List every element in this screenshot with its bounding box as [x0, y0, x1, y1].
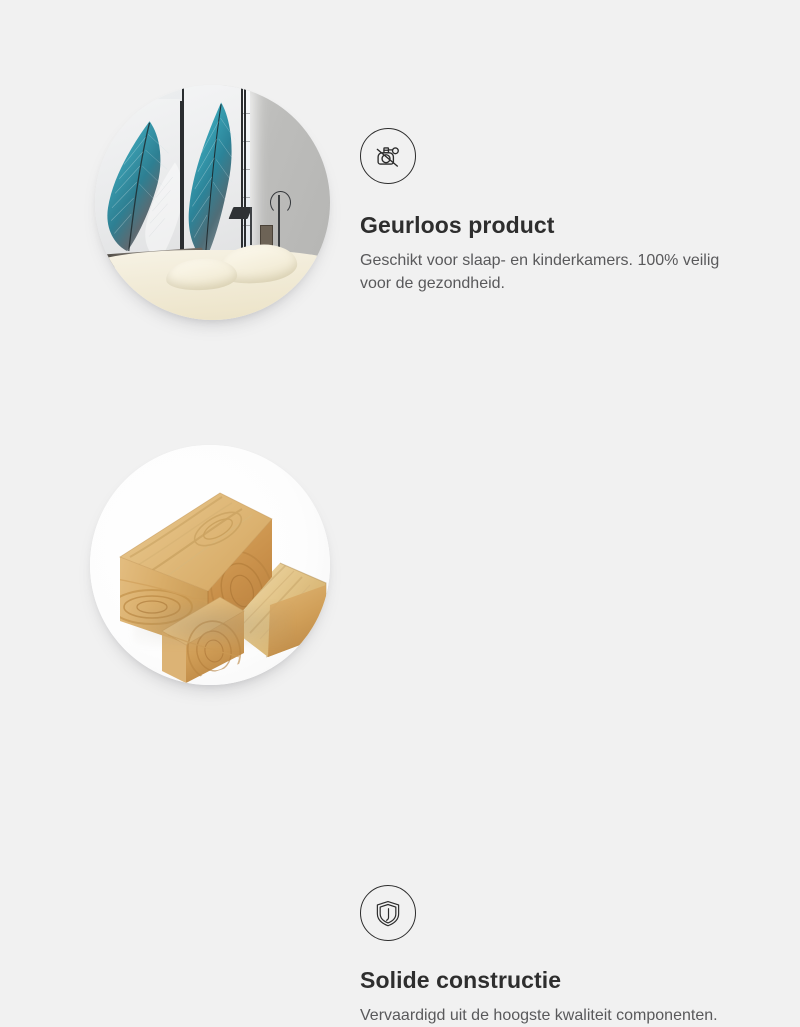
feature-text-solid: Solide constructie Vervaardigd uit de ho… [360, 885, 760, 1027]
feature-description: Vervaardigd uit de hoogste kwaliteit com… [360, 1004, 750, 1027]
feature-description: Geschikt voor slaap- en kinderkamers. 10… [360, 249, 750, 296]
feather-graphic-middle [182, 99, 243, 264]
wooden-blocks-illustration [90, 445, 330, 685]
wooden-blocks-photo [90, 445, 330, 685]
no-perfume-icon [360, 128, 416, 184]
feature-title: Geurloos product [360, 212, 760, 240]
bedroom-scene [95, 85, 330, 320]
lamp-stand [250, 207, 252, 245]
panel-edge [244, 85, 246, 268]
feather-wall-art-bedroom-photo [95, 85, 330, 320]
feature-block-odourless: Geurloos product Geschikt voor slaap- en… [0, 0, 800, 400]
picture-frame [260, 225, 274, 246]
product-feature-page: Geurloos product Geschikt voor slaap- en… [0, 0, 800, 800]
feature-title: Solide constructie [360, 967, 760, 995]
feature-block-solid-construction: Solide constructie Vervaardigd uit de ho… [0, 400, 800, 800]
wall-lamp [270, 191, 291, 214]
wall-lamp-arm [278, 195, 280, 247]
panel-edge [182, 85, 184, 268]
shield-icon [360, 885, 416, 941]
feature-image-wrap-solid [90, 445, 330, 685]
feature-image-wrap-odourless [95, 85, 330, 347]
feature-text-odourless: Geurloos product Geschikt voor slaap- en… [360, 128, 760, 296]
block-shadow [133, 603, 291, 646]
wooden-blocks-scene [90, 445, 330, 685]
